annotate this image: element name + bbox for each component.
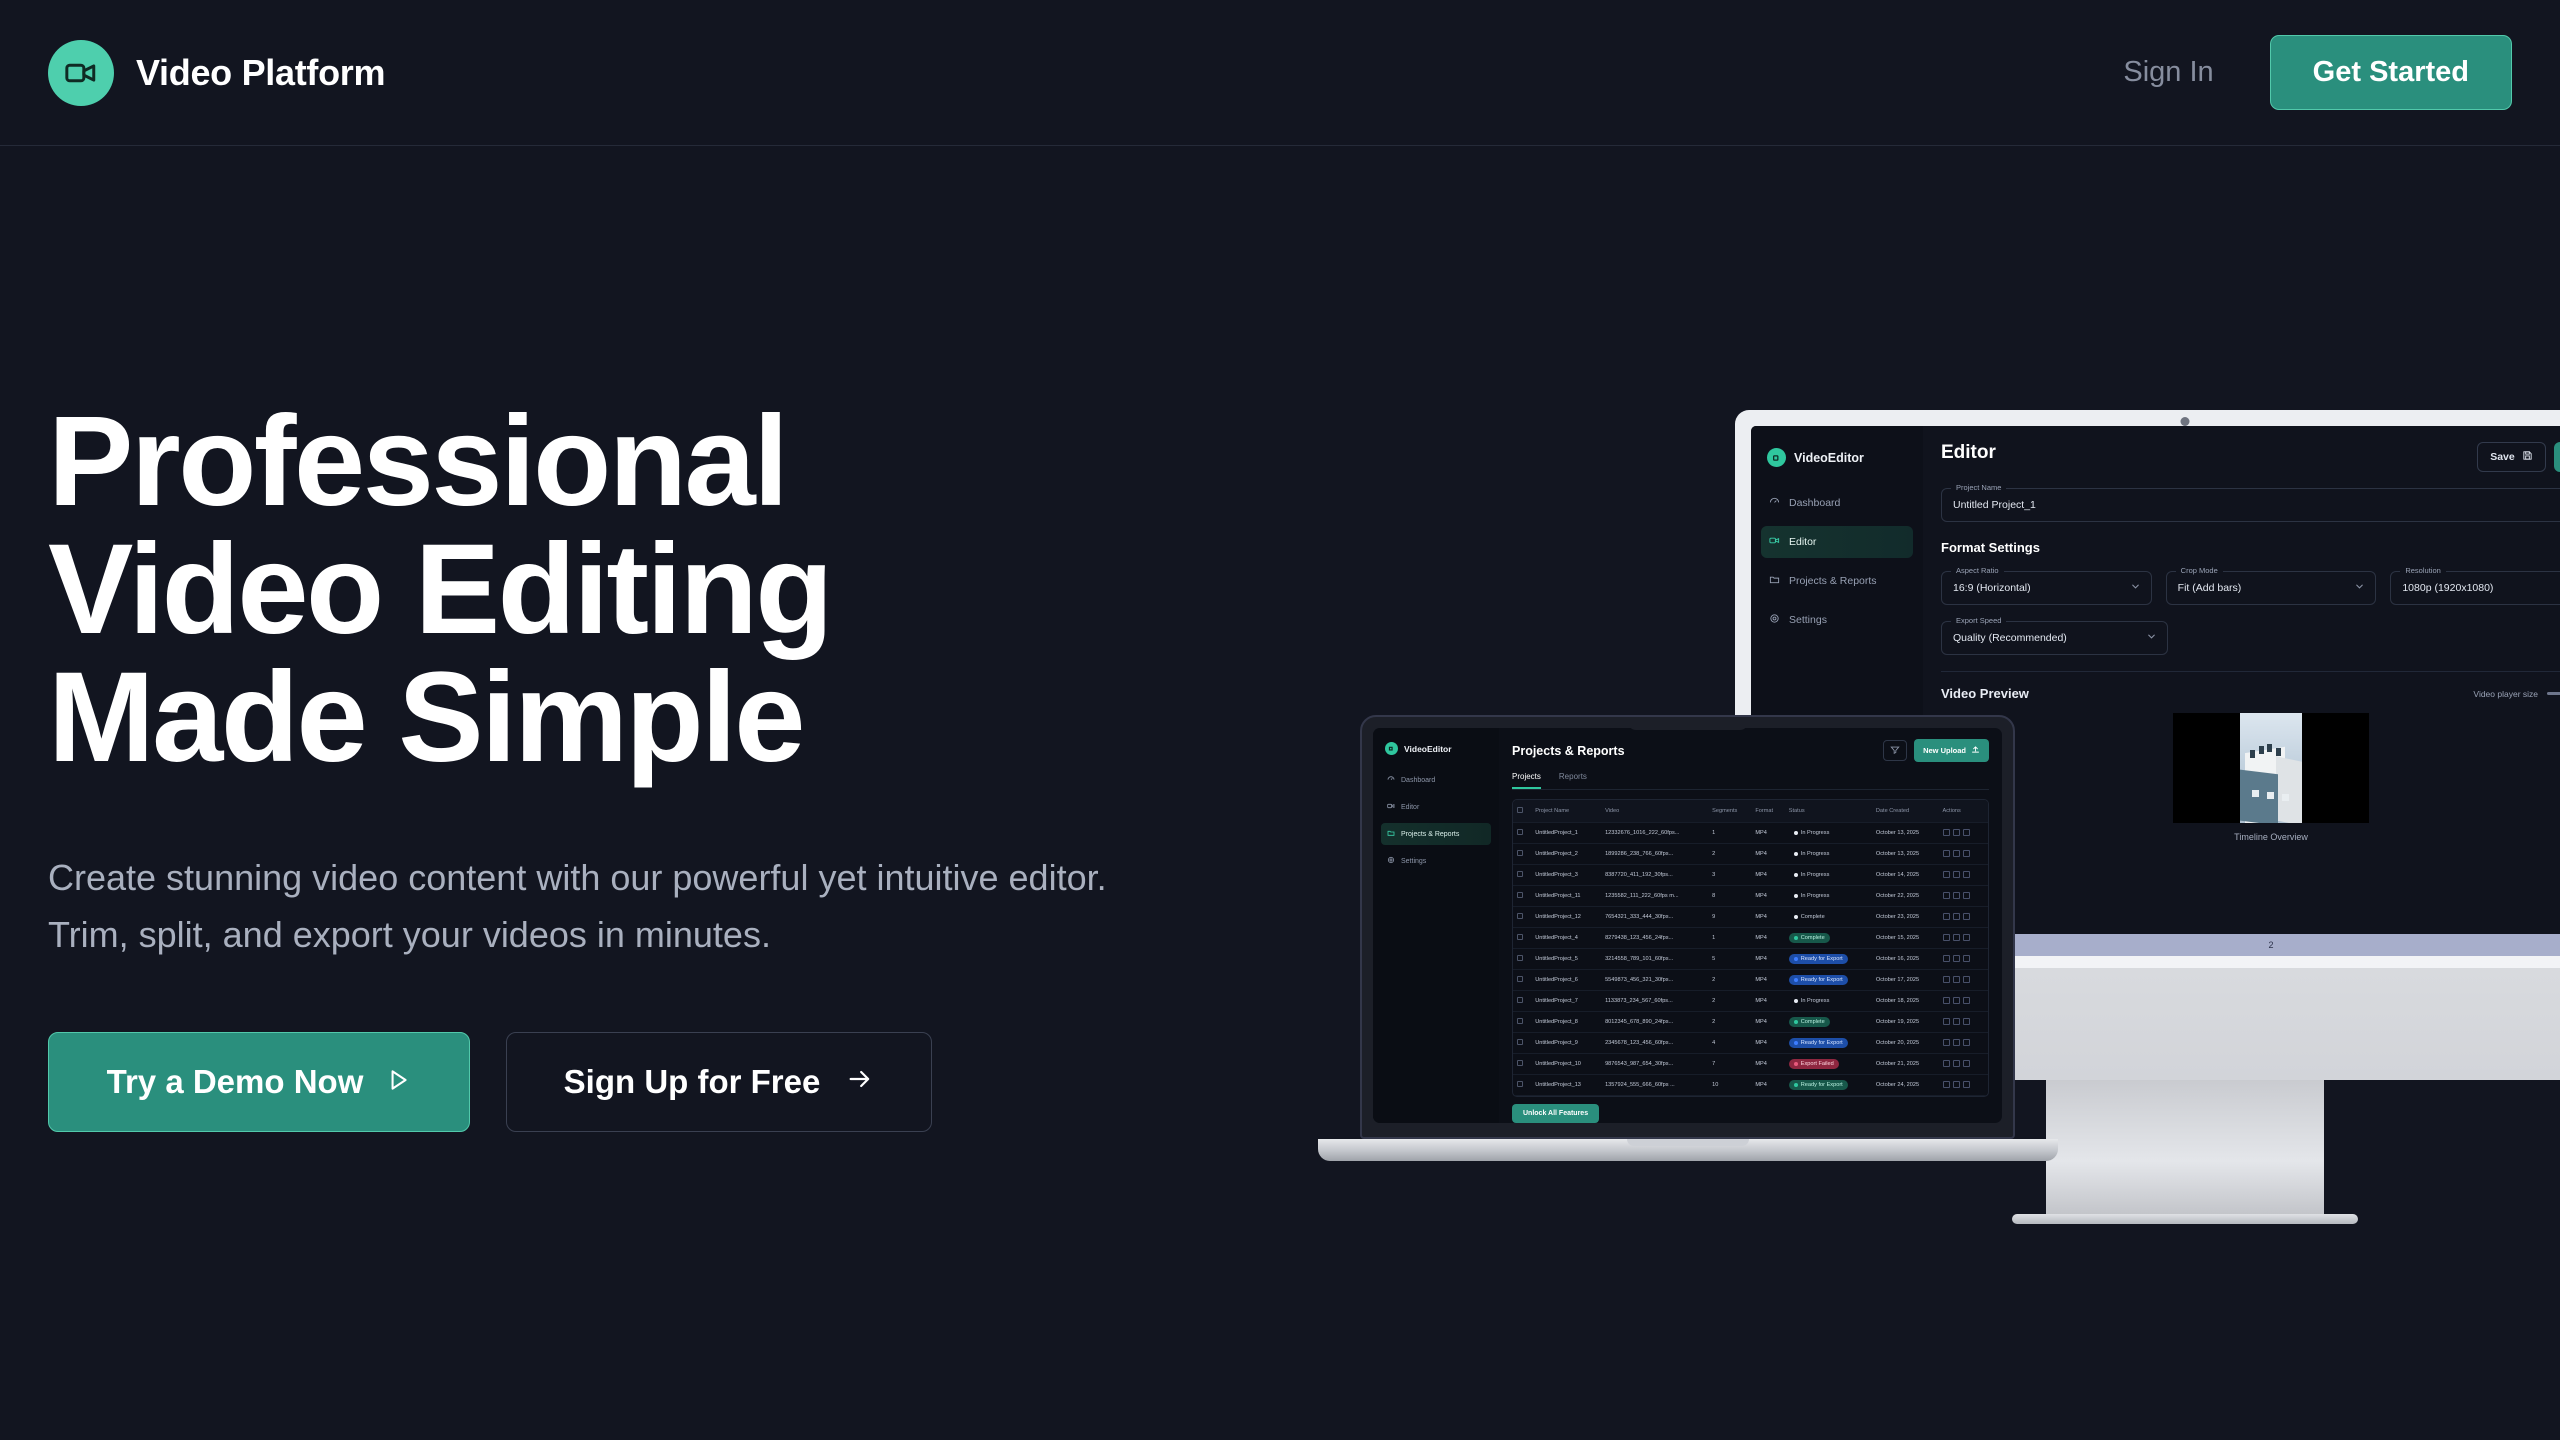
export-speed-label: Export Speed <box>1951 616 2006 625</box>
gear-icon <box>1387 856 1395 866</box>
cell-status: Ready for Export <box>1785 1033 1872 1054</box>
save-label: Save <box>2490 451 2515 463</box>
status-dot-icon <box>1794 936 1798 940</box>
tab-projects[interactable]: Projects <box>1512 772 1541 789</box>
hero-cta-group: Try a Demo Now Sign Up for Free <box>48 1032 1198 1132</box>
table-body: UntitledProject_112332676_1016_222_60fps… <box>1513 823 1988 1098</box>
cell-status: In Progress <box>1785 823 1872 844</box>
page-title: Editor <box>1941 442 1996 464</box>
cell-status: Ready for Export <box>1785 970 1872 991</box>
cell-project-name: UntitledProject_8 <box>1531 1012 1601 1033</box>
edit-icon[interactable] <box>1943 1060 1950 1067</box>
status-dot-icon <box>1794 1041 1798 1045</box>
cell-video: 8279438_123_456_24fps... <box>1601 928 1708 949</box>
laptop-top-actions: New Upload <box>1883 739 1989 762</box>
status-dot-icon <box>1794 831 1798 835</box>
table-row[interactable]: UntitledProject_53214558_789_101_60fps..… <box>1513 949 1988 970</box>
cell-actions[interactable] <box>1939 844 1989 865</box>
table-row[interactable]: UntitledProject_88012345_678_890_24fps..… <box>1513 1012 1988 1033</box>
hero-title: Professional Video Editing Made Simple <box>48 398 1198 782</box>
cell-date-created: October 14, 2025 <box>1872 865 1939 886</box>
cell-segments: 2 <box>1708 844 1751 865</box>
sidebar-item-projects-reports[interactable]: Projects & Reports <box>1761 565 1913 597</box>
download-icon[interactable] <box>1953 850 1960 857</box>
resolution-label: Resolution <box>2400 566 2445 575</box>
status-badge: In Progress <box>1789 849 1835 859</box>
cell-date-created: October 13, 2025 <box>1872 844 1939 865</box>
download-icon[interactable] <box>1953 892 1960 899</box>
format-settings-title: Format Settings <box>1941 540 2560 555</box>
row-checkbox[interactable] <box>1513 823 1531 844</box>
sign-up-free-button[interactable]: Sign Up for Free <box>506 1032 932 1132</box>
sidebar-label: Settings <box>1401 858 1426 865</box>
cell-actions[interactable] <box>1939 886 1989 907</box>
cell-video: 8387720_411_192_30fps... <box>1601 865 1708 886</box>
row-checkbox[interactable] <box>1513 844 1531 865</box>
folder-icon <box>1387 829 1395 839</box>
cell-segments: 4 <box>1708 1033 1751 1054</box>
table-head: Project NameVideoSegmentsFormatStatusDat… <box>1513 800 1988 823</box>
status-dot-icon <box>1794 894 1798 898</box>
project-name-value: Untitled Project_1 <box>1953 499 2036 511</box>
status-dot-icon <box>1794 978 1798 982</box>
cell-status: In Progress <box>1785 865 1872 886</box>
cell-project-name: UntitledProject_12 <box>1531 907 1601 928</box>
video-camera-icon <box>1385 742 1398 755</box>
video-player-size-control[interactable]: Video player size <box>2473 689 2560 699</box>
download-icon[interactable] <box>1953 955 1960 962</box>
checkbox-icon[interactable] <box>1517 997 1523 1003</box>
laptop-notch <box>1628 728 1748 730</box>
row-checkbox[interactable] <box>1513 865 1531 886</box>
download-icon[interactable] <box>1953 1039 1960 1046</box>
cell-format: MP4 <box>1751 1054 1784 1075</box>
laptop-app-brand-name: VideoEditor <box>1404 744 1452 754</box>
arrow-right-icon <box>846 1063 874 1101</box>
chevron-down-icon <box>2130 581 2141 595</box>
column-header-date-created[interactable]: Date Created <box>1872 800 1939 823</box>
download-icon[interactable] <box>1953 976 1960 983</box>
laptop-sidebar: VideoEditor Dashboard Editor Projects & … <box>1373 728 1499 1123</box>
status-dot-icon <box>1794 1083 1798 1087</box>
monitor-app-brand-name: VideoEditor <box>1794 451 1864 465</box>
aspect-ratio-label: Aspect Ratio <box>1951 566 2004 575</box>
crop-mode-label: Crop Mode <box>2176 566 2223 575</box>
video-preview-title: Video Preview <box>1941 686 2029 701</box>
download-icon[interactable] <box>1953 1081 1960 1088</box>
cell-format: MP4 <box>1751 823 1784 844</box>
cell-date-created: October 18, 2025 <box>1872 991 1939 1012</box>
cell-date-created: October 13, 2025 <box>1872 823 1939 844</box>
cell-video: 1357924_555_666_60fps ... <box>1601 1075 1708 1096</box>
column-header-segments[interactable]: Segments <box>1708 800 1751 823</box>
cell-format: MP4 <box>1751 886 1784 907</box>
delete-icon[interactable] <box>1963 997 1970 1004</box>
edit-icon[interactable] <box>1943 829 1950 836</box>
edit-icon[interactable] <box>1943 997 1950 1004</box>
folder-icon <box>1769 574 1780 588</box>
edit-icon[interactable] <box>1943 1018 1950 1025</box>
table-row[interactable]: UntitledProject_111235582_111_222_60fps … <box>1513 886 1988 907</box>
status-dot-icon <box>1794 915 1798 919</box>
cell-actions[interactable] <box>1939 1075 1989 1096</box>
status-dot-icon <box>1794 852 1798 856</box>
cell-date-created: October 23, 2025 <box>1872 907 1939 928</box>
divider <box>1941 671 2560 672</box>
column-header-status[interactable]: Status <box>1785 800 1872 823</box>
cell-video: 1133873_234_567_60fps... <box>1601 991 1708 1012</box>
cell-status: Ready for Export <box>1785 1075 1872 1096</box>
projects-table-wrap: Project NameVideoSegmentsFormatStatusDat… <box>1512 799 1989 1097</box>
try-demo-label: Try a Demo Now <box>107 1063 364 1101</box>
cell-segments: 2 <box>1708 1012 1751 1033</box>
filter-button[interactable] <box>1883 740 1907 761</box>
cell-actions[interactable] <box>1939 1033 1989 1054</box>
page-title: Projects & Reports <box>1512 744 1625 758</box>
laptop-tabs: Projects Reports <box>1512 772 1989 790</box>
status-badge: Complete <box>1789 933 1830 943</box>
row-checkbox[interactable] <box>1513 907 1531 928</box>
cell-actions[interactable] <box>1939 970 1989 991</box>
sidebar-label: Projects & Reports <box>1789 575 1877 587</box>
laptop-bottom-row: Unlock All Features <box>1512 1097 1989 1123</box>
video-player-size-label: Video player size <box>2473 689 2538 699</box>
cell-project-name: UntitledProject_1 <box>1531 823 1601 844</box>
edit-icon[interactable] <box>1943 976 1950 983</box>
sidebar-item-settings[interactable]: Settings <box>1761 604 1913 636</box>
project-name-label: Project Name <box>1951 483 2006 492</box>
status-badge: Ready for Export <box>1789 954 1848 964</box>
edit-icon[interactable] <box>1943 1081 1950 1088</box>
cell-segments: 1 <box>1708 823 1751 844</box>
floppy-disk-icon <box>2522 450 2533 464</box>
cell-date-created: October 16, 2025 <box>1872 949 1939 970</box>
resolution-select[interactable]: Resolution 1080p (1920x1080) <box>2390 571 2560 605</box>
delete-icon[interactable] <box>1963 955 1970 962</box>
delete-icon[interactable] <box>1963 1018 1970 1025</box>
laptop-screen: VideoEditor Dashboard Editor Projects & … <box>1373 728 2002 1123</box>
cell-project-name: UntitledProject_13 <box>1531 1075 1601 1096</box>
sidebar-label: Editor <box>1789 536 1816 548</box>
column-header-project-name[interactable]: Project Name <box>1531 800 1601 823</box>
download-icon[interactable] <box>1953 997 1960 1004</box>
sidebar-item-dashboard[interactable]: Dashboard <box>1381 769 1491 791</box>
cell-date-created: October 17, 2025 <box>1872 970 1939 991</box>
column-header-format[interactable]: Format <box>1751 800 1784 823</box>
video-camera-icon <box>1769 535 1780 549</box>
cell-status: In Progress <box>1785 844 1872 865</box>
get-started-button[interactable]: Get Started <box>2270 35 2512 110</box>
cell-date-created: October 24, 2025 <box>1872 1075 1939 1096</box>
hero-section: Professional Video Editing Made Simple C… <box>48 398 1198 1132</box>
monitor-stand <box>2046 1080 2324 1216</box>
status-dot-icon <box>1794 1020 1798 1024</box>
video-preview-header: Video Preview Video player size <box>1941 686 2560 701</box>
edit-icon[interactable] <box>1943 955 1950 962</box>
brand-logo[interactable]: Video Platform <box>48 40 385 106</box>
video-camera-icon <box>48 40 114 106</box>
checkbox-icon[interactable] <box>1517 913 1523 919</box>
cell-project-name: UntitledProject_5 <box>1531 949 1601 970</box>
row-checkbox[interactable] <box>1513 991 1531 1012</box>
checkbox-icon[interactable] <box>1517 829 1523 835</box>
sidebar-label: Settings <box>1789 614 1827 626</box>
tab-reports[interactable]: Reports <box>1559 772 1587 789</box>
status-badge: In Progress <box>1789 828 1835 838</box>
export-speed-value: Quality (Recommended) <box>1953 632 2067 644</box>
brand-name: Video Platform <box>136 52 385 94</box>
cell-format: MP4 <box>1751 949 1784 970</box>
checkbox-icon[interactable] <box>1517 871 1523 877</box>
cell-format: MP4 <box>1751 970 1784 991</box>
monitor-topbar: Editor Save Exp <box>1941 442 2560 472</box>
edit-icon[interactable] <box>1943 871 1950 878</box>
cell-video: 9876543_987_654_30fps... <box>1601 1054 1708 1075</box>
save-button[interactable]: Save <box>2477 442 2546 472</box>
column-header-video[interactable]: Video <box>1601 800 1708 823</box>
status-badge: Ready for Export <box>1789 1080 1848 1090</box>
cell-video: 3214558_789_101_60fps... <box>1601 949 1708 970</box>
table-row[interactable]: UntitledProject_131357924_555_666_60fps … <box>1513 1075 1988 1096</box>
column-header-actions: Actions <box>1939 800 1989 823</box>
video-camera-icon <box>1767 448 1786 467</box>
edit-icon[interactable] <box>1943 1039 1950 1046</box>
video-player-size-slider[interactable] <box>2547 692 2560 695</box>
table-row[interactable]: UntitledProject_112332676_1016_222_60fps… <box>1513 823 1988 844</box>
cell-segments: 7 <box>1708 1054 1751 1075</box>
cell-status: Ready for Export <box>1785 949 1872 970</box>
filter-icon <box>1890 743 1900 758</box>
cell-date-created: October 20, 2025 <box>1872 1033 1939 1054</box>
project-name-field[interactable]: Project Name Untitled Project_1 <box>1941 488 2560 522</box>
cell-project-name: UntitledProject_2 <box>1531 844 1601 865</box>
cell-actions[interactable] <box>1939 1054 1989 1075</box>
table-row[interactable]: UntitledProject_127654321_333_444_30fps.… <box>1513 907 1988 928</box>
sidebar-item-dashboard[interactable]: Dashboard <box>1761 487 1913 519</box>
sidebar-label: Dashboard <box>1401 777 1435 784</box>
row-checkbox[interactable] <box>1513 928 1531 949</box>
video-camera-icon <box>1387 802 1395 812</box>
cell-format: MP4 <box>1751 928 1784 949</box>
download-icon[interactable] <box>1953 1018 1960 1025</box>
cell-segments: 5 <box>1708 949 1751 970</box>
checkbox-icon[interactable] <box>1517 892 1523 898</box>
download-icon[interactable] <box>1953 1060 1960 1067</box>
delete-icon[interactable] <box>1963 976 1970 983</box>
webcam-icon <box>2181 417 2190 426</box>
unlock-all-features-button[interactable]: Unlock All Features <box>1512 1104 1599 1123</box>
sidebar-label: Editor <box>1401 804 1419 811</box>
table-row[interactable]: UntitledProject_92345678_123_456_60fps..… <box>1513 1033 1988 1054</box>
cell-segments: 2 <box>1708 970 1751 991</box>
cell-format: MP4 <box>1751 1075 1784 1096</box>
delete-icon[interactable] <box>1963 913 1970 920</box>
cell-status: In Progress <box>1785 886 1872 907</box>
row-checkbox[interactable] <box>1513 949 1531 970</box>
row-checkbox[interactable] <box>1513 1054 1531 1075</box>
checkbox-icon[interactable] <box>1517 934 1523 940</box>
status-badge: In Progress <box>1789 996 1835 1006</box>
new-upload-button[interactable]: New Upload <box>1914 739 1989 762</box>
projects-table: Project NameVideoSegmentsFormatStatusDat… <box>1513 800 1988 1097</box>
cell-actions[interactable] <box>1939 865 1989 886</box>
status-dot-icon <box>1794 999 1798 1003</box>
cell-video: 7654321_333_444_30fps... <box>1601 907 1708 928</box>
row-checkbox[interactable] <box>1513 1033 1531 1054</box>
site-header: Video Platform Sign In Get Started <box>0 0 2560 146</box>
cell-actions[interactable] <box>1939 991 1989 1012</box>
status-badge: In Progress <box>1789 891 1835 901</box>
cell-date-created: October 21, 2025 <box>1872 1054 1939 1075</box>
cell-actions[interactable] <box>1939 949 1989 970</box>
cell-video: 8012345_678_890_24fps... <box>1601 1012 1708 1033</box>
chevron-down-icon <box>2146 631 2157 645</box>
delete-icon[interactable] <box>1963 934 1970 941</box>
cell-status: Export Failed <box>1785 1054 1872 1075</box>
row-checkbox[interactable] <box>1513 886 1531 907</box>
cell-project-name: UntitledProject_7 <box>1531 991 1601 1012</box>
table-row[interactable]: UntitledProject_48279438_123_456_24fps..… <box>1513 928 1988 949</box>
table-row[interactable]: UntitledProject_71133873_234_567_60fps..… <box>1513 991 1988 1012</box>
delete-icon[interactable] <box>1963 871 1970 878</box>
monitor-app-brand: VideoEditor <box>1761 440 1913 487</box>
cell-status: In Progress <box>1785 991 1872 1012</box>
cell-segments: 9 <box>1708 907 1751 928</box>
edit-icon[interactable] <box>1943 934 1950 941</box>
checkbox-icon[interactable] <box>1517 1018 1523 1024</box>
cell-project-name: UntitledProject_6 <box>1531 970 1601 991</box>
status-dot-icon <box>1794 873 1798 877</box>
cell-actions[interactable] <box>1939 907 1989 928</box>
table-row[interactable]: UntitledProject_21899286_238_766_60fps..… <box>1513 844 1988 865</box>
checkbox-icon[interactable] <box>1517 1060 1523 1066</box>
sidebar-item-editor[interactable]: Editor <box>1381 796 1491 818</box>
chevron-down-icon <box>2354 581 2365 595</box>
status-badge: Ready for Export <box>1789 1038 1848 1048</box>
header-actions: Sign In Get Started <box>2123 35 2512 110</box>
checkbox-icon[interactable] <box>1517 850 1523 856</box>
laptop-topbar: Projects & Reports New Upload <box>1512 739 1989 762</box>
cell-project-name: UntitledProject_4 <box>1531 928 1601 949</box>
video-preview-stage <box>2173 713 2369 823</box>
checkbox-icon[interactable] <box>1517 807 1523 813</box>
delete-icon[interactable] <box>1963 850 1970 857</box>
row-checkbox[interactable] <box>1513 1012 1531 1033</box>
table-row[interactable]: UntitledProject_109876543_987_654_30fps.… <box>1513 1054 1988 1075</box>
status-badge: In Progress <box>1789 870 1835 880</box>
cell-segments: 1 <box>1708 928 1751 949</box>
new-upload-label: New Upload <box>1923 746 1966 755</box>
status-badge: Complete <box>1789 1017 1830 1027</box>
cell-project-name: UntitledProject_11 <box>1531 886 1601 907</box>
checkbox-icon[interactable] <box>1517 955 1523 961</box>
status-dot-icon <box>1794 957 1798 961</box>
cell-segments: 10 <box>1708 1075 1751 1096</box>
edit-icon[interactable] <box>1943 892 1950 899</box>
laptop-mockup: VideoEditor Dashboard Editor Projects & … <box>1360 715 2060 1161</box>
cell-status: Complete <box>1785 928 1872 949</box>
delete-icon[interactable] <box>1963 829 1970 836</box>
status-dot-icon <box>1794 1062 1798 1066</box>
cell-video: 1235582_111_222_60fps m... <box>1601 886 1708 907</box>
gauge-icon <box>1769 496 1780 510</box>
sidebar-label: Projects & Reports <box>1401 831 1459 838</box>
checkbox-icon[interactable] <box>1517 1039 1523 1045</box>
cell-format: MP4 <box>1751 1033 1784 1054</box>
sidebar-item-editor[interactable]: Editor <box>1761 526 1913 558</box>
cell-format: MP4 <box>1751 1012 1784 1033</box>
cell-segments: 2 <box>1708 991 1751 1012</box>
cell-date-created: October 19, 2025 <box>1872 1012 1939 1033</box>
cell-actions[interactable] <box>1939 928 1989 949</box>
crop-mode-select[interactable]: Crop Mode Fit (Add bars) <box>2166 571 2377 605</box>
cell-video: 1899286_238_766_60fps... <box>1601 844 1708 865</box>
laptop-base <box>1318 1139 2058 1161</box>
download-icon[interactable] <box>1953 871 1960 878</box>
crop-mode-value: Fit (Add bars) <box>2178 582 2242 594</box>
aspect-ratio-select[interactable]: Aspect Ratio 16:9 (Horizontal) <box>1941 571 2152 605</box>
delete-icon[interactable] <box>1963 1060 1970 1067</box>
checkbox-icon[interactable] <box>1517 1081 1523 1087</box>
cell-date-created: October 15, 2025 <box>1872 928 1939 949</box>
cell-video: 2345678_123_456_60fps... <box>1601 1033 1708 1054</box>
delete-icon[interactable] <box>1963 1081 1970 1088</box>
laptop-app-brand: VideoEditor <box>1381 738 1491 769</box>
select-all-checkbox-header[interactable] <box>1513 800 1531 823</box>
export-button[interactable]: Exp <box>2554 442 2560 472</box>
status-badge: Ready for Export <box>1789 975 1848 985</box>
cell-status: Complete <box>1785 1012 1872 1033</box>
delete-icon[interactable] <box>1963 892 1970 899</box>
status-badge: Complete <box>1789 912 1830 922</box>
cell-date-created: October 22, 2025 <box>1872 886 1939 907</box>
try-demo-button[interactable]: Try a Demo Now <box>48 1032 470 1132</box>
sidebar-label: Dashboard <box>1789 497 1840 509</box>
download-icon[interactable] <box>1953 829 1960 836</box>
table-row[interactable]: UntitledProject_65549873_456_321_30fps..… <box>1513 970 1988 991</box>
table-header-row: Project NameVideoSegmentsFormatStatusDat… <box>1513 800 1988 823</box>
row-checkbox[interactable] <box>1513 1075 1531 1096</box>
video-preview-thumbnail <box>2240 713 2302 823</box>
sign-up-free-label: Sign Up for Free <box>564 1063 821 1101</box>
cell-actions[interactable] <box>1939 823 1989 844</box>
edit-icon[interactable] <box>1943 913 1950 920</box>
table-row[interactable]: UntitledProject_38387720_411_192_30fps..… <box>1513 865 1988 886</box>
sidebar-item-settings[interactable]: Settings <box>1381 850 1491 872</box>
delete-icon[interactable] <box>1963 1039 1970 1046</box>
download-icon[interactable] <box>1953 913 1960 920</box>
cell-project-name: UntitledProject_9 <box>1531 1033 1601 1054</box>
device-mockups: VideoEditor Dashboard Editor Projects & … <box>1360 390 2560 1240</box>
format-settings-row-1: Aspect Ratio 16:9 (Horizontal) Crop Mode… <box>1941 555 2560 605</box>
sidebar-item-projects-reports[interactable]: Projects & Reports <box>1381 823 1491 845</box>
cell-actions[interactable] <box>1939 1012 1989 1033</box>
cell-format: MP4 <box>1751 991 1784 1012</box>
edit-icon[interactable] <box>1943 850 1950 857</box>
download-icon[interactable] <box>1953 934 1960 941</box>
checkbox-icon[interactable] <box>1517 976 1523 982</box>
monitor-top-actions: Save Exp <box>2477 442 2560 472</box>
export-speed-select[interactable]: Export Speed Quality (Recommended) <box>1941 621 2168 655</box>
gauge-icon <box>1387 775 1395 785</box>
cell-format: MP4 <box>1751 907 1784 928</box>
row-checkbox[interactable] <box>1513 970 1531 991</box>
cell-format: MP4 <box>1751 865 1784 886</box>
cell-project-name: UntitledProject_3 <box>1531 865 1601 886</box>
hero-subtitle: Create stunning video content with our p… <box>48 850 1128 964</box>
cell-video: 12332676_1016_222_60fps... <box>1601 823 1708 844</box>
sign-in-link[interactable]: Sign In <box>2123 56 2213 89</box>
